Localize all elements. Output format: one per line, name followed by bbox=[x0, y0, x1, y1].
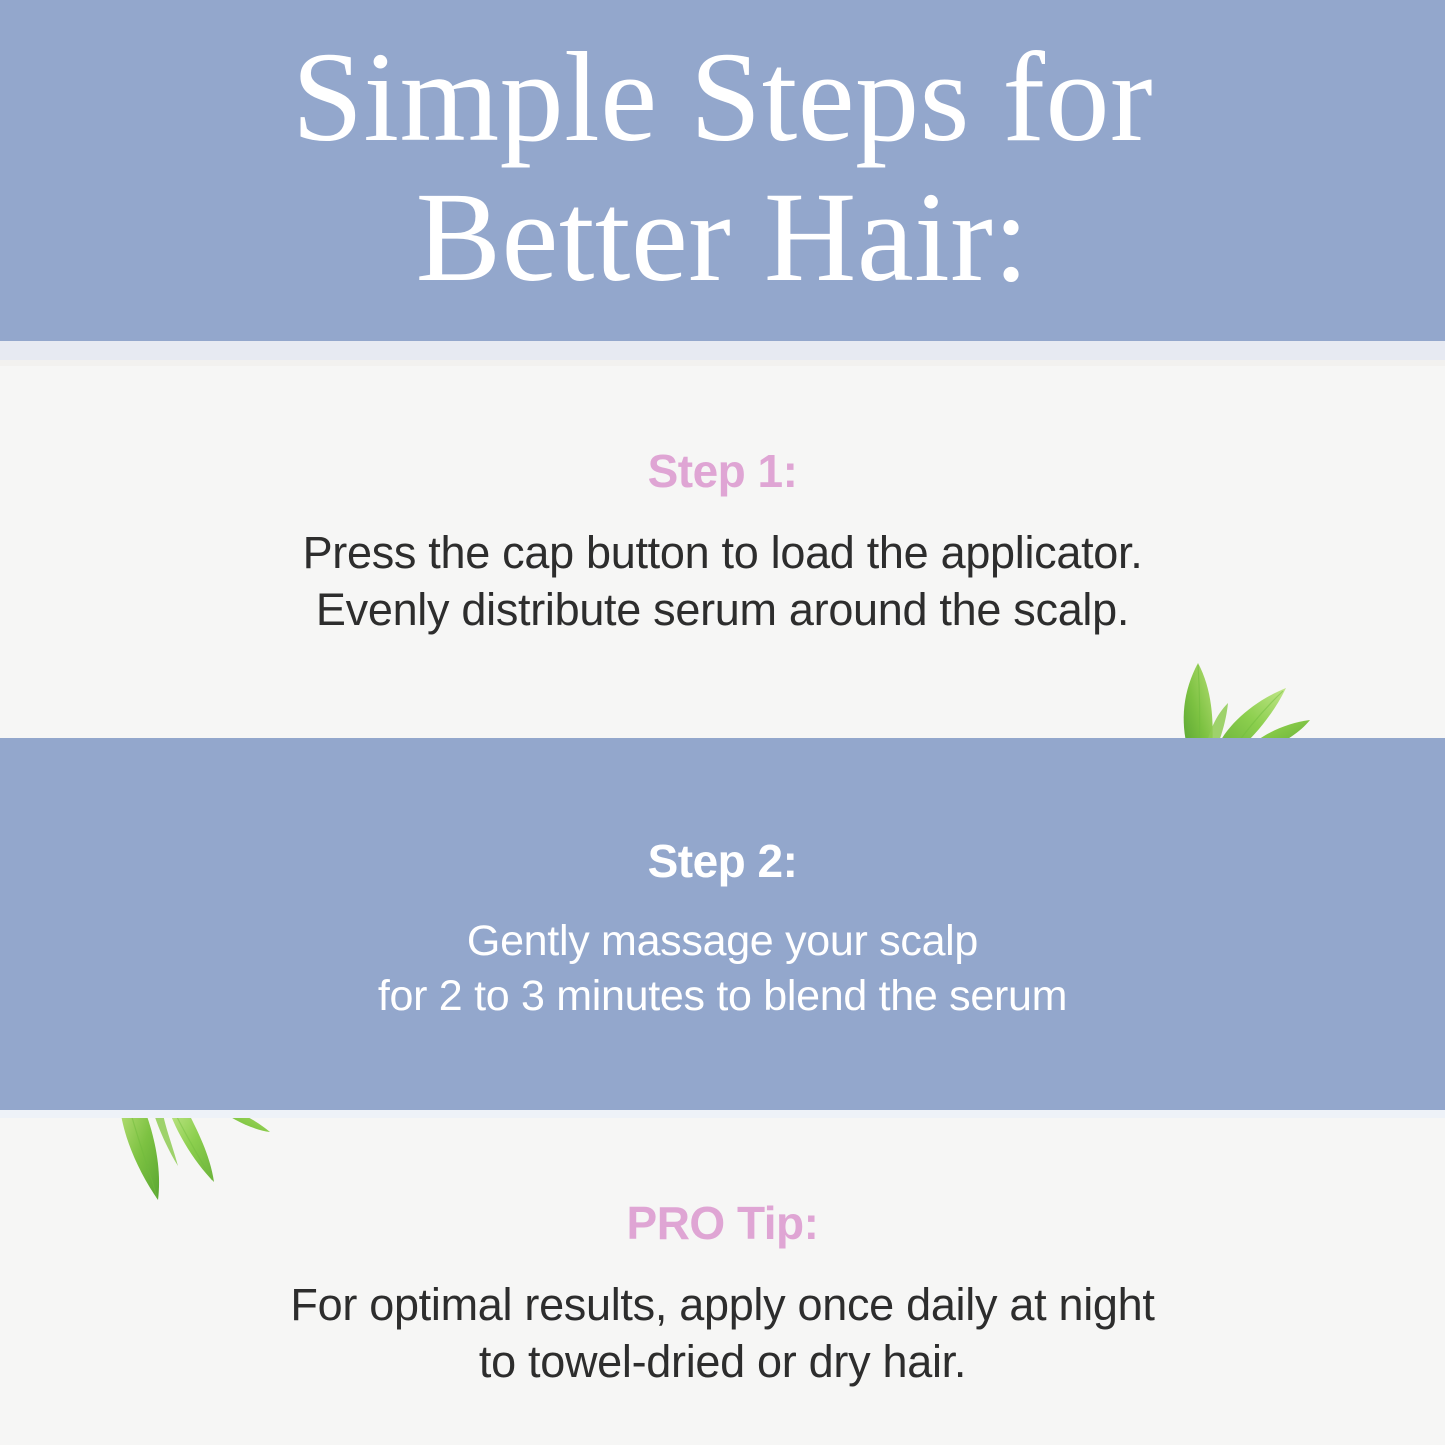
header-divider-lavender bbox=[0, 341, 1445, 360]
pro-tip-heading: PRO Tip: bbox=[627, 1196, 819, 1250]
step-2-body: Gently massage your scalp for 2 to 3 min… bbox=[378, 914, 1067, 1023]
section-step-2: Step 2: Gently massage your scalp for 2 … bbox=[0, 738, 1445, 1110]
pro-tip-body: For optimal results, apply once daily at… bbox=[290, 1276, 1154, 1390]
step-2-heading: Step 2: bbox=[648, 834, 798, 888]
step-1-body: Press the cap button to load the applica… bbox=[303, 524, 1143, 638]
infographic-card: Simple Steps for Better Hair: Step 1: Pr… bbox=[0, 0, 1445, 1445]
section-pro-tip: PRO Tip: For optimal results, apply once… bbox=[0, 1118, 1445, 1445]
section-step-1: Step 1: Press the cap button to load the… bbox=[0, 366, 1445, 738]
step-2-divider bbox=[0, 1110, 1445, 1118]
step-1-heading: Step 1: bbox=[648, 444, 798, 498]
header-band: Simple Steps for Better Hair: bbox=[0, 0, 1445, 341]
page-title: Simple Steps for Better Hair: bbox=[292, 28, 1153, 307]
